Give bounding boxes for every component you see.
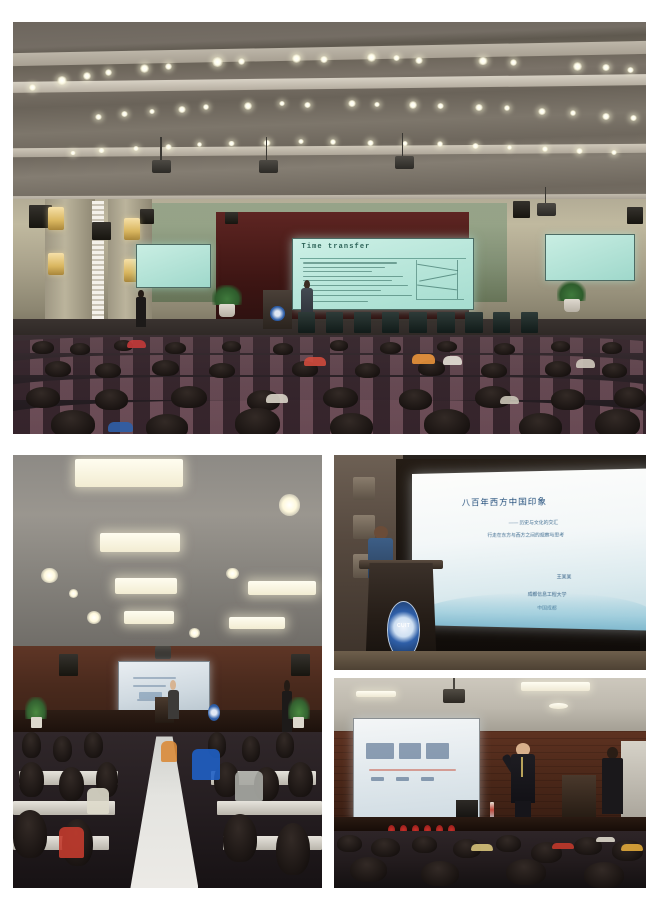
side-projection-screen (545, 234, 636, 281)
attendee-standing (136, 290, 145, 327)
slide-presenter-cn: 王某某 (557, 575, 572, 581)
ceiling-spotlight (226, 568, 238, 579)
ceiling-downlight (478, 57, 487, 66)
ceiling-downlight (367, 53, 376, 61)
photo-auditorium-wide[interactable]: Time transfer (13, 22, 646, 434)
ceiling-spotlight (41, 568, 58, 584)
projector-stem (266, 137, 267, 162)
stage-chair (382, 312, 399, 333)
wall-sconce (48, 253, 64, 276)
audience-head (273, 343, 293, 355)
ceiling-downlight (630, 115, 636, 121)
slide-subtitle2-cn: 行走在东方与西方之间的观察与思考 (487, 532, 564, 539)
projector-icon (155, 646, 170, 659)
lecture-hall-scene (13, 455, 322, 888)
desk-row (217, 801, 322, 815)
audience-head (519, 413, 562, 434)
ceiling-downlight (70, 151, 76, 156)
slide-title-cn: 八百年西方中国印象 (462, 496, 547, 509)
audience-head (276, 732, 295, 758)
ceiling-downlight (415, 57, 423, 64)
audience-head (223, 814, 257, 862)
ceiling-downlight (393, 55, 400, 61)
stage-chair (437, 312, 454, 333)
ceiling-downlight (298, 139, 304, 144)
audience-head (84, 732, 103, 758)
slide-content-bar (133, 677, 176, 679)
ceiling-panel-light (356, 691, 397, 697)
stage-chair (326, 312, 343, 333)
audience-head (380, 342, 401, 354)
audience-head (165, 342, 186, 354)
ceiling-downlight (602, 113, 610, 120)
projector-icon (443, 689, 465, 704)
audience-clothing (443, 356, 462, 365)
slide-content-block (366, 743, 393, 759)
audience-head (494, 343, 515, 355)
potted-plant-icon (557, 282, 586, 313)
slide-text-line (303, 267, 384, 268)
audience-clothing (235, 771, 263, 801)
audience-clothing (412, 354, 435, 364)
audience-clothing (596, 837, 615, 842)
photo-lecture-hall-aisle[interactable] (13, 455, 322, 888)
audience-head (595, 409, 639, 434)
ceiling-panel-light (115, 578, 177, 594)
projector-icon (259, 160, 278, 173)
audience-head (399, 389, 432, 410)
slide-content-block (399, 743, 421, 759)
slide-wave-decoration (412, 592, 646, 631)
audience-head (222, 341, 241, 352)
ceiling-spotlight (279, 494, 301, 516)
audience-head (424, 409, 470, 434)
ceiling-panel-light (75, 459, 183, 487)
ceiling-downlight (507, 145, 513, 150)
audience-clothing (471, 844, 493, 851)
photo-podium-chinese-slide[interactable]: 八百年西方中国印象 —— 历史与文化的交汇 行走在东方与西方之间的观察与思考 王… (334, 455, 646, 670)
loudspeaker-icon (59, 654, 78, 676)
loudspeaker-icon (291, 654, 310, 676)
audience-clothing (621, 844, 643, 851)
projector-icon (395, 156, 414, 169)
audience-head (288, 762, 313, 797)
slide-subtitle-cn: —— 历史与文化的交汇 (509, 520, 559, 527)
audience-clothing (192, 749, 220, 779)
loudspeaker-icon (140, 209, 155, 223)
audience-head (146, 414, 188, 434)
audience-head (242, 736, 261, 762)
potted-plant-icon (288, 697, 310, 727)
slide-text-line (303, 301, 368, 302)
audience-head (13, 810, 47, 858)
wall-cabinet (621, 741, 646, 821)
ceiling-downlight (95, 114, 101, 120)
audience-head (32, 341, 54, 354)
audience-clothing (87, 788, 109, 814)
projection-screen: 八百年西方中国印象 —— 历史与文化的交汇 行走在东方与西方之间的观察与思考 王… (412, 469, 646, 631)
audience-clothing (59, 827, 84, 857)
audience-head (70, 343, 90, 355)
cuit-seal-label: CUIT (388, 623, 419, 629)
ceiling-downlight (292, 54, 301, 63)
lectern (562, 775, 596, 821)
ceiling-downlight (437, 103, 444, 109)
audience-head (602, 342, 622, 354)
audience-head (481, 363, 506, 378)
audience-head (371, 838, 399, 857)
audience-head (545, 361, 572, 377)
ceiling-panel-light (248, 581, 316, 596)
audience-clothing (500, 396, 519, 404)
presenter-figure (168, 680, 179, 719)
ceiling-downlight (212, 57, 222, 66)
audience-head (209, 363, 234, 378)
ceiling-downlight (504, 105, 510, 111)
ceiling-downlight (57, 76, 66, 85)
side-projection-screen (136, 244, 211, 287)
audience-head (45, 361, 72, 377)
audience-head (171, 386, 206, 409)
slide-underline (369, 769, 456, 771)
podium-scene: 八百年西方中国印象 —— 历史与文化的交汇 行走在东方与西方之间的观察与思考 王… (334, 455, 646, 670)
ceiling-downlight (133, 146, 139, 151)
stage-chair-row (298, 312, 539, 333)
ceiling-downlight (475, 104, 483, 111)
audience-head (421, 861, 458, 886)
audience-head (19, 762, 44, 797)
ceiling-spotlight (189, 628, 200, 638)
slide-content-block (396, 777, 408, 781)
slide-content-block (371, 777, 383, 781)
slide-text-line (303, 285, 408, 286)
audience-clothing (552, 843, 574, 850)
loudspeaker-icon (92, 222, 111, 241)
floor (334, 651, 646, 670)
ceiling-downlight (611, 150, 617, 155)
audience-clothing (266, 394, 288, 403)
ceiling-downlight (121, 111, 128, 117)
audience-head (323, 387, 358, 409)
ceiling-downlight (29, 84, 37, 91)
speaker-scene (334, 678, 646, 888)
audience-head (59, 767, 84, 802)
audience-area (334, 831, 646, 888)
slide-text-line (303, 295, 411, 296)
stage-chair (354, 312, 371, 333)
audience-head (95, 363, 120, 378)
ceiling-downlight (573, 62, 582, 70)
loudspeaker-icon (225, 212, 238, 224)
projector-icon (152, 160, 171, 173)
ceiling-panel-light (100, 533, 180, 552)
audience-head (355, 363, 380, 378)
projector-stem (402, 133, 403, 158)
stage-chair (493, 312, 510, 333)
slide-text-line (303, 276, 402, 277)
audience-clothing (108, 422, 133, 432)
potted-plant-icon (25, 697, 47, 727)
audience-head (551, 341, 570, 352)
audience-head (350, 857, 387, 882)
stage-chair (521, 312, 538, 333)
ceiling-downlight (330, 139, 336, 145)
audience-head (437, 341, 457, 352)
photo-collage: Time transfer (0, 0, 661, 902)
audience-head (330, 413, 373, 434)
audience-head (614, 387, 646, 409)
slide-text-line (303, 280, 391, 281)
audience-head (95, 389, 128, 410)
audience-head (152, 360, 179, 376)
ceiling-downlight (83, 72, 91, 79)
audience-head (551, 389, 585, 410)
audience-clothing (161, 741, 176, 763)
ceiling-downlight (542, 146, 548, 152)
audience-head (276, 823, 310, 875)
slide-text-line (303, 271, 372, 272)
stage-platform (334, 817, 646, 832)
slide-content-block (426, 743, 448, 759)
ceiling-spotlight (69, 589, 78, 598)
audience-head (496, 835, 521, 852)
loudspeaker-icon (627, 207, 643, 223)
audience-area (13, 335, 646, 434)
ceiling-downlight (409, 101, 417, 108)
slide-content-bar (133, 685, 165, 687)
audience-clothing (576, 359, 595, 368)
ceiling-panel-light (124, 611, 173, 624)
ceiling-downlight (538, 108, 546, 115)
slide-text-line (303, 262, 397, 263)
audience-clothing (127, 340, 146, 348)
stage-chair (409, 312, 426, 333)
audience-head (235, 408, 281, 434)
ceiling-downlight (140, 64, 149, 73)
ceiling-downlight (105, 69, 112, 76)
attendee-standing (602, 747, 622, 814)
slide-diagram (416, 260, 464, 300)
slide-rule (300, 258, 466, 259)
ceiling-downlight (228, 141, 234, 147)
audience-head (412, 836, 437, 853)
audience-head (337, 835, 362, 852)
ceiling-panel-light (229, 617, 285, 629)
audience-head (602, 363, 627, 378)
wall-sconce (48, 207, 64, 230)
wall-sconce (124, 218, 140, 241)
stage-chair (298, 312, 315, 333)
audience-clothing (304, 357, 326, 366)
photo-speaker-gesturing[interactable] (334, 678, 646, 888)
audience-head (584, 862, 625, 888)
slide-content-block (421, 777, 433, 781)
main-projection-screen: Time transfer (292, 238, 474, 310)
ceiling-downlight (165, 63, 172, 70)
audience-head (53, 736, 72, 762)
audience-head (22, 732, 41, 758)
ceiling-spotlight (87, 611, 101, 624)
projector-icon (537, 203, 556, 216)
potted-plant-icon (212, 286, 241, 317)
presenter-figure (509, 743, 537, 819)
ceiling-panel-light (521, 682, 590, 690)
wall-decor-strip (353, 477, 375, 501)
slide-text-line (303, 290, 381, 291)
ceiling-downlight (165, 144, 172, 150)
loudspeaker-icon (513, 201, 529, 217)
audience-head (51, 410, 95, 434)
audience-head (330, 340, 349, 351)
audience-head (26, 387, 60, 409)
slide-title: Time transfer (302, 243, 371, 251)
auditorium-scene: Time transfer (13, 22, 646, 434)
stage-chair (465, 312, 482, 333)
audience-head (506, 859, 547, 885)
projector-stem (160, 137, 161, 162)
cuit-seal-icon (270, 306, 285, 321)
